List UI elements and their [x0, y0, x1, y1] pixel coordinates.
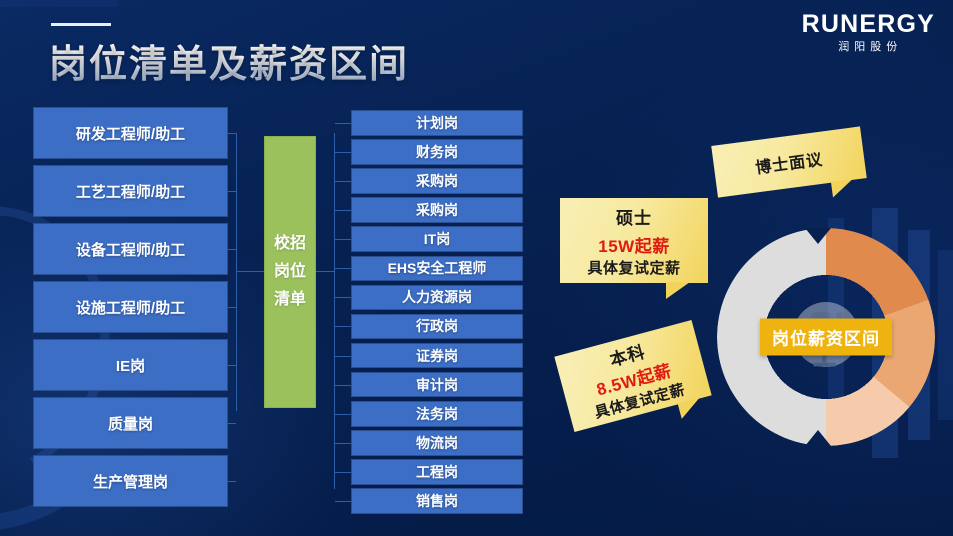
- right-job-label: EHS安全工程师: [388, 258, 487, 278]
- page-title: 岗位清单及薪资区间: [49, 33, 409, 88]
- right-job-label: 采购岗: [416, 200, 458, 220]
- left-job-box[interactable]: 设备工程师/助工: [33, 223, 228, 275]
- connector-left-stub: [228, 191, 236, 192]
- connector-right-stub: [335, 181, 351, 182]
- connector-left-to-center: [236, 271, 265, 272]
- connector-right-stub: [335, 356, 351, 357]
- donut-notch-bottom: [805, 430, 831, 446]
- connector-right-stub: [335, 123, 351, 124]
- left-job-label: IE岗: [116, 355, 145, 376]
- right-job-label: 人力资源岗: [402, 287, 472, 307]
- connector-left-stub: [228, 365, 236, 366]
- connector-right-spine: [334, 133, 335, 489]
- right-job-box[interactable]: IT岗: [351, 226, 523, 252]
- left-job-label: 工艺工程师/助工: [76, 181, 185, 202]
- connector-right-stub: [335, 443, 351, 444]
- donut-center-label: 岗位薪资区间: [760, 319, 892, 356]
- right-job-box[interactable]: 物流岗: [351, 430, 523, 456]
- left-job-box[interactable]: IE岗: [33, 339, 228, 391]
- connector-right-stub: [335, 472, 351, 473]
- salary-range-donut: 岗位薪资区间: [717, 228, 935, 446]
- connector-right-stub: [335, 268, 351, 269]
- connector-right-stub: [335, 501, 351, 502]
- connector-right-stub: [335, 152, 351, 153]
- donut-notch-top: [805, 228, 831, 244]
- right-job-label: 销售岗: [416, 491, 458, 511]
- connector-right-stub: [335, 385, 351, 386]
- right-job-label: 审计岗: [416, 375, 458, 395]
- right-job-label: 采购岗: [416, 171, 458, 191]
- right-job-label: 法务岗: [416, 404, 458, 424]
- left-job-box[interactable]: 质量岗: [33, 397, 228, 449]
- connector-left-stub: [228, 133, 236, 134]
- title-rule: [51, 23, 111, 26]
- connector-left-stub: [228, 481, 236, 482]
- right-job-box[interactable]: 证券岗: [351, 343, 523, 369]
- right-job-box[interactable]: EHS安全工程师: [351, 256, 523, 282]
- callout-phd-line-1: 博士面议: [754, 146, 825, 179]
- right-job-label: 行政岗: [416, 316, 458, 336]
- center-node-line-1: 校招: [274, 230, 306, 258]
- background-accent-left: [0, 0, 118, 7]
- callout-master-line-2: 15W起薪: [598, 232, 669, 257]
- logo-subtitle: 润阳股份: [802, 42, 935, 53]
- right-job-label: IT岗: [424, 229, 450, 249]
- connector-left-stub: [228, 423, 236, 424]
- right-job-label: 物流岗: [416, 433, 458, 453]
- background-bar-4: [938, 250, 953, 420]
- callout-master-line-3: 具体复试定薪: [587, 257, 680, 278]
- left-job-box[interactable]: 设施工程师/助工: [33, 281, 228, 333]
- right-job-label: 工程岗: [416, 462, 458, 482]
- right-job-box[interactable]: 采购岗: [351, 168, 523, 194]
- right-job-box[interactable]: 采购岗: [351, 197, 523, 223]
- right-job-box[interactable]: 计划岗: [351, 110, 523, 136]
- left-job-label: 设施工程师/助工: [76, 297, 185, 318]
- connector-right-stub: [335, 239, 351, 240]
- right-job-label: 计划岗: [416, 113, 458, 133]
- callout-master-tail: [666, 282, 690, 299]
- right-job-box[interactable]: 人力资源岗: [351, 285, 523, 311]
- left-job-label: 质量岗: [108, 413, 153, 434]
- right-job-box[interactable]: 行政岗: [351, 314, 523, 340]
- connector-right-stub: [335, 210, 351, 211]
- right-job-box[interactable]: 财务岗: [351, 139, 523, 165]
- callout-phd-tail: [831, 179, 855, 198]
- connector-left-stub: [228, 307, 236, 308]
- right-job-box[interactable]: 销售岗: [351, 488, 523, 514]
- connector-right-stub: [335, 414, 351, 415]
- left-job-box[interactable]: 生产管理岗: [33, 455, 228, 507]
- right-job-box[interactable]: 审计岗: [351, 372, 523, 398]
- center-node-line-3: 清单: [274, 286, 306, 314]
- left-job-label: 研发工程师/助工: [76, 123, 185, 144]
- company-logo: RUNERGY 润阳股份: [802, 12, 935, 53]
- connector-center-to-right: [316, 271, 335, 272]
- left-job-label: 生产管理岗: [93, 471, 168, 492]
- right-job-box[interactable]: 工程岗: [351, 459, 523, 485]
- center-node-campus-list[interactable]: 校招 岗位 清单: [264, 136, 316, 408]
- left-job-box[interactable]: 工艺工程师/助工: [33, 165, 228, 217]
- right-job-box[interactable]: 法务岗: [351, 401, 523, 427]
- callout-master[interactable]: 硕士 15W起薪 具体复试定薪: [560, 198, 708, 283]
- left-job-box[interactable]: 研发工程师/助工: [33, 107, 228, 159]
- connector-left-spine: [236, 133, 237, 411]
- connector-right-stub: [335, 297, 351, 298]
- center-node-line-2: 岗位: [274, 258, 306, 286]
- connector-right-stub: [335, 326, 351, 327]
- callout-master-line-1: 硕士: [616, 204, 652, 229]
- right-job-label: 财务岗: [416, 142, 458, 162]
- right-job-label: 证券岗: [416, 346, 458, 366]
- left-job-label: 设备工程师/助工: [76, 239, 185, 260]
- connector-left-stub: [228, 249, 236, 250]
- logo-wordmark: RUNERGY: [802, 12, 935, 37]
- slide-canvas: 岗位清单及薪资区间 RUNERGY 润阳股份 研发工程师/助工工艺工程师/助工设…: [0, 0, 953, 536]
